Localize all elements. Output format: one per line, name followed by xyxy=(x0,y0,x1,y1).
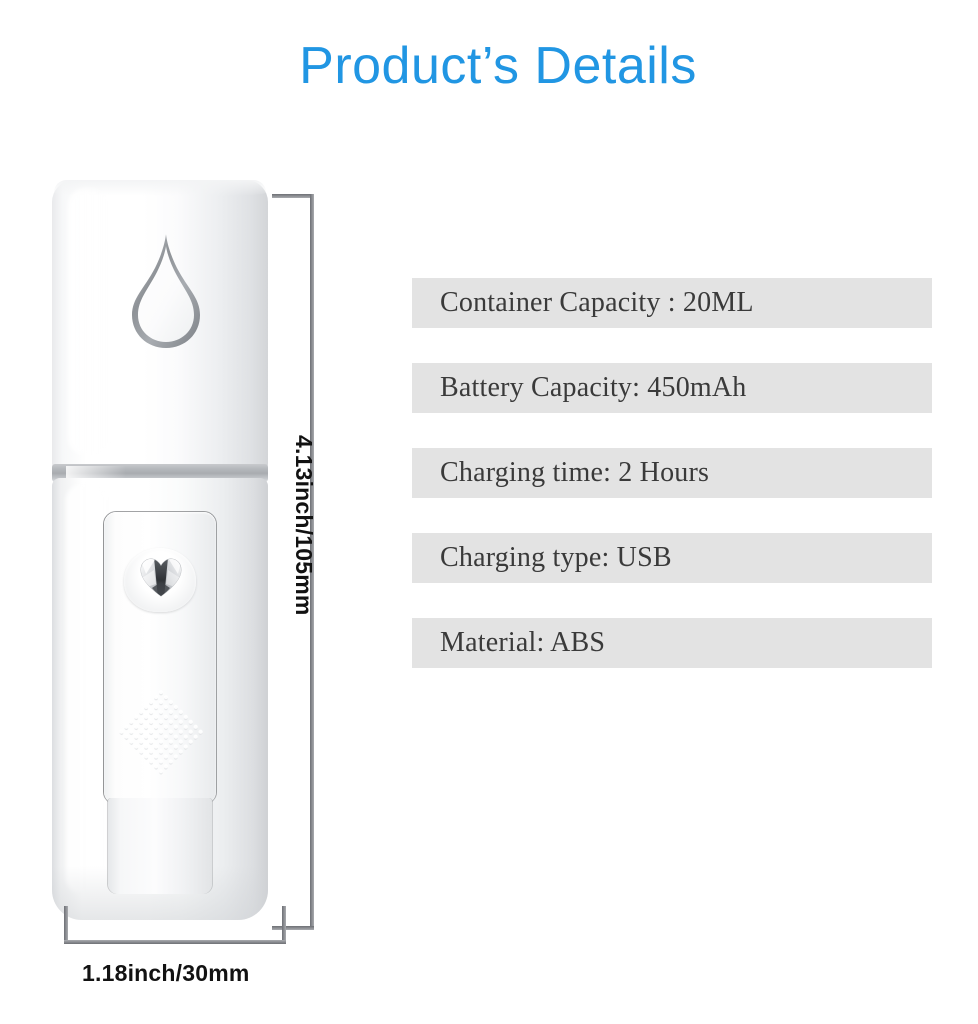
width-dimension-tick-right xyxy=(282,906,286,944)
page-title: Product’s Details xyxy=(0,40,978,92)
spec-list: Container Capacity : 20ML Battery Capaci… xyxy=(412,278,932,668)
spec-row-charging-type: Charging type: USB xyxy=(412,533,932,583)
width-dimension-label: 1.18inch/30mm xyxy=(82,960,250,987)
spec-text: Charging type: USB xyxy=(440,542,672,574)
spec-text: Container Capacity : 20ML xyxy=(440,287,754,319)
front-lower-panel xyxy=(108,798,212,894)
product-figure: 4.13inch/105mm 1.18inch/30mm xyxy=(40,170,340,970)
heart-crystal-button-icon[interactable] xyxy=(140,558,182,598)
spec-text: Battery Capacity: 450mAh xyxy=(440,372,747,404)
spec-row-material: Material: ABS xyxy=(412,618,932,668)
height-dimension-tick-top xyxy=(272,194,314,198)
body-gloss-highlight xyxy=(66,484,106,894)
width-dimension-tick-left xyxy=(64,906,68,944)
spec-text: Charging time: 2 Hours xyxy=(440,457,709,489)
spec-row-charging-time: Charging time: 2 Hours xyxy=(412,448,932,498)
cap-gloss-highlight xyxy=(68,188,112,456)
height-dimension-tick-bottom xyxy=(272,926,314,930)
water-droplet-icon xyxy=(128,232,204,350)
width-dimension-line xyxy=(64,940,286,944)
product-device-illustration: 4.13inch/105mm 1.18inch/30mm xyxy=(52,180,268,920)
product-details-infographic: Product’s Details xyxy=(0,0,978,1024)
spec-text: Material: ABS xyxy=(440,627,605,659)
spec-row-container-capacity: Container Capacity : 20ML xyxy=(412,278,932,328)
height-dimension-label: 4.13inch/105mm xyxy=(290,435,317,705)
spec-row-battery-capacity: Battery Capacity: 450mAh xyxy=(412,363,932,413)
